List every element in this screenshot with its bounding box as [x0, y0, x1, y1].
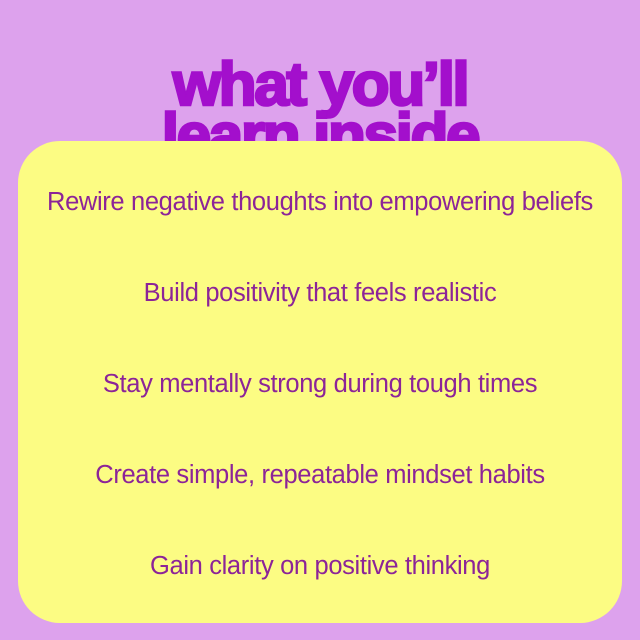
benefits-card: Rewire negative thoughts into empowering…: [18, 141, 622, 623]
list-item: Build positivity that feels realistic: [18, 281, 622, 307]
list-item: Create simple, repeatable mindset habits: [18, 463, 622, 489]
list-item: Stay mentally strong during tough times: [18, 372, 622, 398]
list-item: Rewire negative thoughts into empowering…: [18, 190, 622, 216]
benefits-list: Rewire negative thoughts into empowering…: [18, 141, 622, 623]
poster-canvas: what you’ll learn inside Rewire negative…: [0, 0, 640, 640]
list-item: Gain clarity on positive thinking: [18, 554, 622, 580]
